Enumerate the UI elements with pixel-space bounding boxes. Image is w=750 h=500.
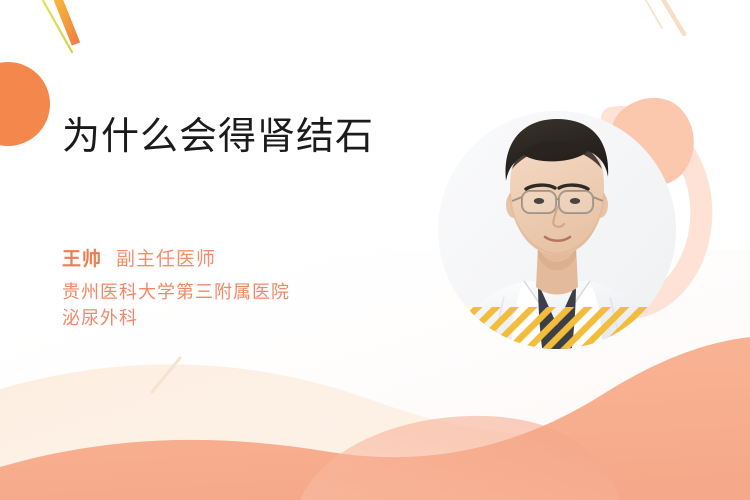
portrait-illustration — [438, 85, 676, 375]
cover-text-content: 为什么会得肾结石 王帅副主任医师 贵州医科大学第三附属医院 泌尿外科 — [62, 0, 462, 500]
portrait-circle-mask — [438, 85, 676, 375]
doctor-department: 泌尿外科 — [62, 305, 290, 331]
doctor-job-title: 副主任医师 — [116, 249, 216, 270]
doctor-hospital: 贵州医科大学第三附属医院 — [62, 279, 290, 305]
doctor-name-row: 王帅副主任医师 — [62, 246, 290, 275]
doctor-credentials: 王帅副主任医师 贵州医科大学第三附属医院 泌尿外科 — [62, 246, 290, 331]
video-cover-card: 为什么会得肾结石 王帅副主任医师 贵州医科大学第三附属医院 泌尿外科 — [0, 0, 750, 500]
left-orange-circle — [0, 62, 50, 146]
doctor-name: 王帅 — [62, 249, 102, 270]
page-title: 为什么会得肾结石 — [62, 116, 374, 159]
doctor-portrait — [438, 85, 676, 375]
top-right-diagonal-lines — [640, 0, 684, 34]
